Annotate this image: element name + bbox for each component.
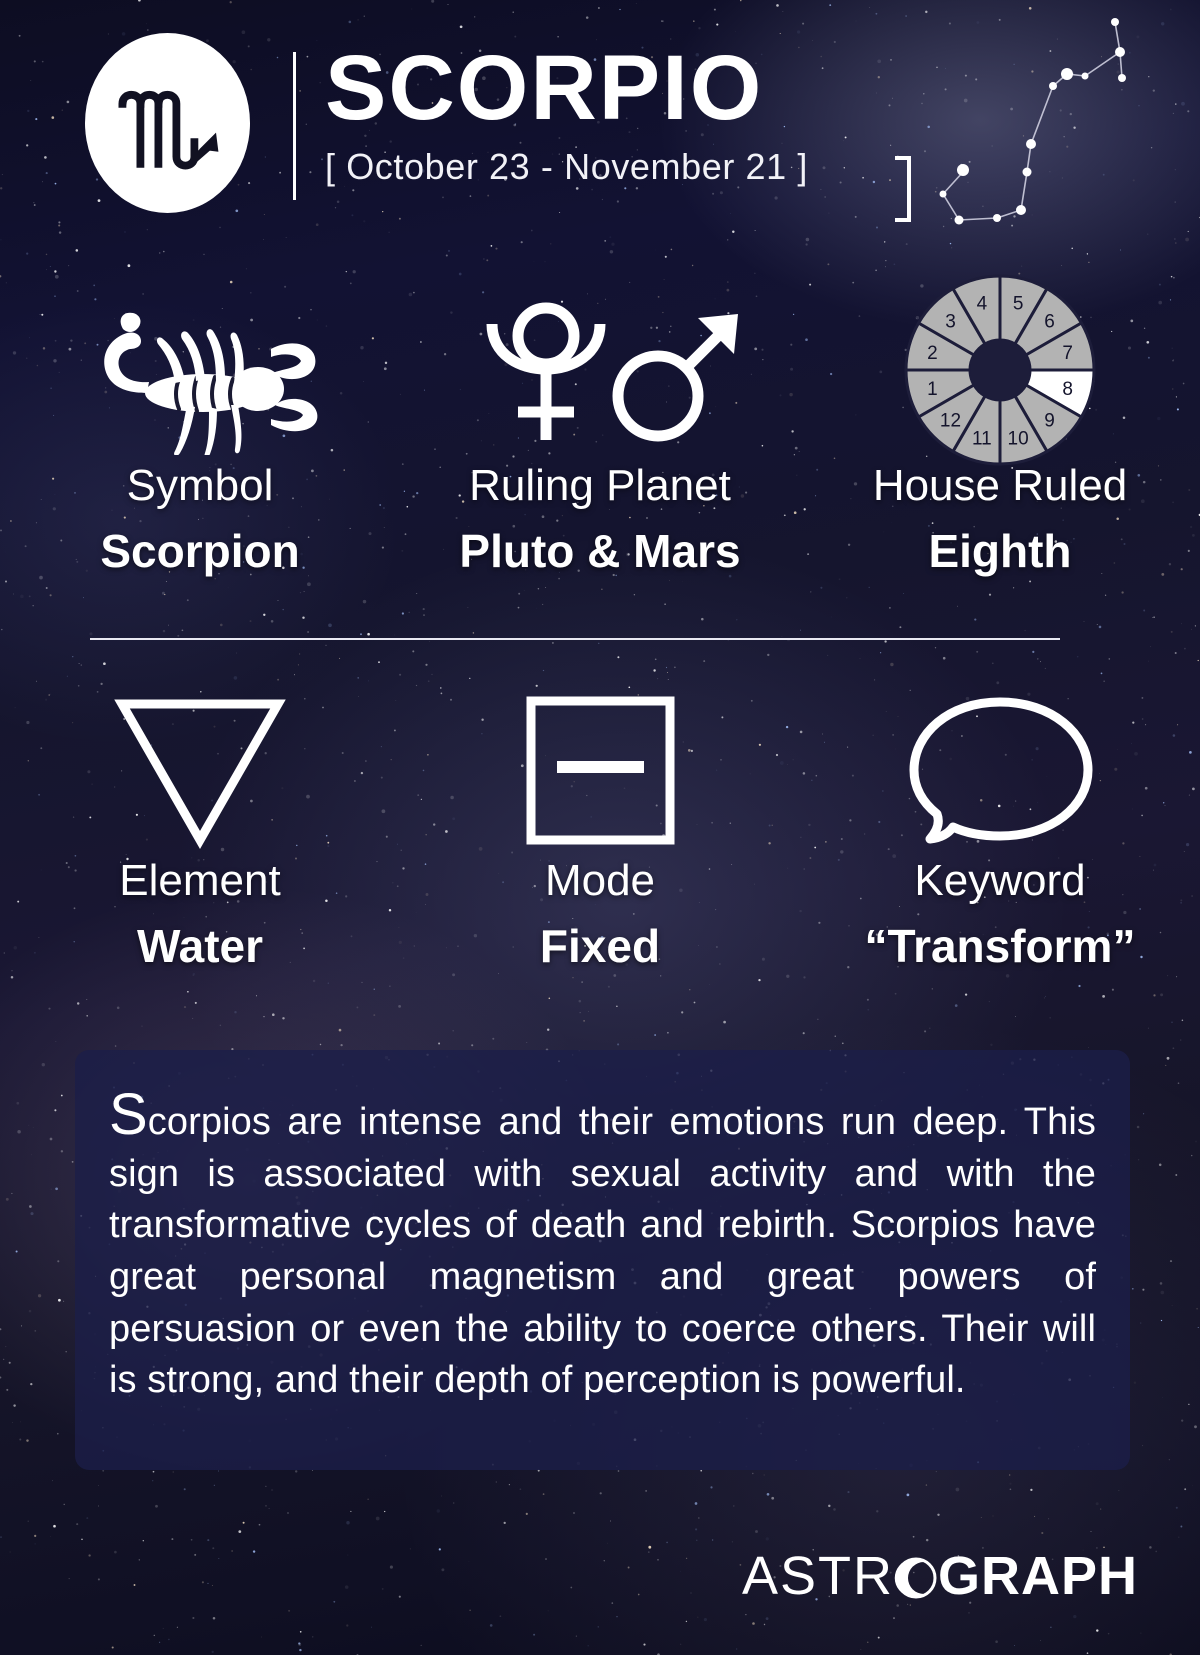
description-card: Scorpios are intense and their emotions … (75, 1050, 1130, 1470)
house-number-3: 3 (945, 312, 956, 333)
logo-graph-text: GRAPH (938, 1545, 1138, 1607)
attribute-label: Keyword (914, 859, 1085, 903)
house-wheel-hub (970, 340, 1030, 400)
speech-bubble-icon (900, 688, 1100, 853)
attribute-value: Eighth (928, 528, 1071, 574)
fixed-square-icon (523, 693, 678, 848)
house-number-6: 6 (1044, 312, 1055, 333)
logo-astro-text: ASTR (742, 1545, 894, 1607)
attribute-symbol: Symbol Scorpion (0, 280, 400, 600)
house-number-1: 1 (927, 379, 938, 400)
description-text: Scorpios are intense and their emotions … (109, 1086, 1096, 1407)
attribute-label: House Ruled (873, 464, 1127, 508)
house-number-5: 5 (1013, 293, 1024, 314)
attribute-house-ruled: 123456789101112 House Ruled Eighth (800, 280, 1200, 600)
crescent-moon-icon (894, 1549, 938, 1603)
house-number-10: 10 (1008, 429, 1029, 450)
date-range: [ October 23 - November 21 ] (325, 146, 808, 188)
icon-slot (523, 685, 678, 855)
attribute-label: Element (119, 859, 280, 903)
attribute-value: Water (137, 923, 263, 969)
attributes-row-1: Symbol Scorpion (0, 280, 1200, 600)
attributes-row-2: Element Water Mode Fixed Keyword “Transf… (0, 685, 1200, 1005)
page-title: SCORPIO (325, 42, 808, 134)
title-block: SCORPIO [ October 23 - November 21 ] (325, 42, 808, 188)
attribute-mode: Mode Fixed (400, 685, 800, 1005)
astrograph-logo[interactable]: ASTR GRAPH (742, 1545, 1138, 1607)
header-divider (293, 52, 296, 200)
header: SCORPIO [ October 23 - November 21 ] (0, 0, 1200, 240)
house-number-7: 7 (1062, 343, 1073, 364)
house-number-2: 2 (927, 343, 938, 364)
house-wheel-icon: 123456789101112 (900, 270, 1100, 470)
zodiac-glyph-badge (85, 33, 250, 213)
house-number-8: 8 (1062, 379, 1073, 400)
icon-slot (900, 685, 1100, 855)
attribute-label: Symbol (127, 464, 274, 508)
pluto-mars-icon (450, 288, 750, 453)
scorpio-glyph-icon (108, 63, 228, 183)
section-divider (90, 638, 1060, 640)
attribute-label: Ruling Planet (469, 464, 731, 508)
poster-root: SCORPIO [ October 23 - November 21 ] (0, 0, 1200, 1655)
water-triangle-icon (110, 688, 290, 853)
scorpion-icon (75, 285, 325, 455)
attribute-element: Element Water (0, 685, 400, 1005)
icon-slot: 123456789101112 (900, 280, 1100, 460)
icon-slot (110, 685, 290, 855)
house-number-4: 4 (977, 293, 988, 314)
house-number-11: 11 (972, 429, 992, 450)
attribute-value: Fixed (540, 923, 660, 969)
icon-slot (75, 280, 325, 460)
attribute-keyword: Keyword “Transform” (800, 685, 1200, 1005)
attribute-value: “Transform” (865, 923, 1136, 969)
house-number-12: 12 (940, 411, 961, 432)
icon-slot (450, 280, 750, 460)
attribute-label: Mode (545, 859, 655, 903)
attribute-value: Pluto & Mars (459, 528, 740, 574)
attribute-value: Scorpion (100, 528, 299, 574)
house-number-9: 9 (1044, 411, 1055, 432)
scorpius-constellation-icon (875, 8, 1195, 243)
attribute-ruling-planet: Ruling Planet Pluto & Mars (400, 280, 800, 600)
